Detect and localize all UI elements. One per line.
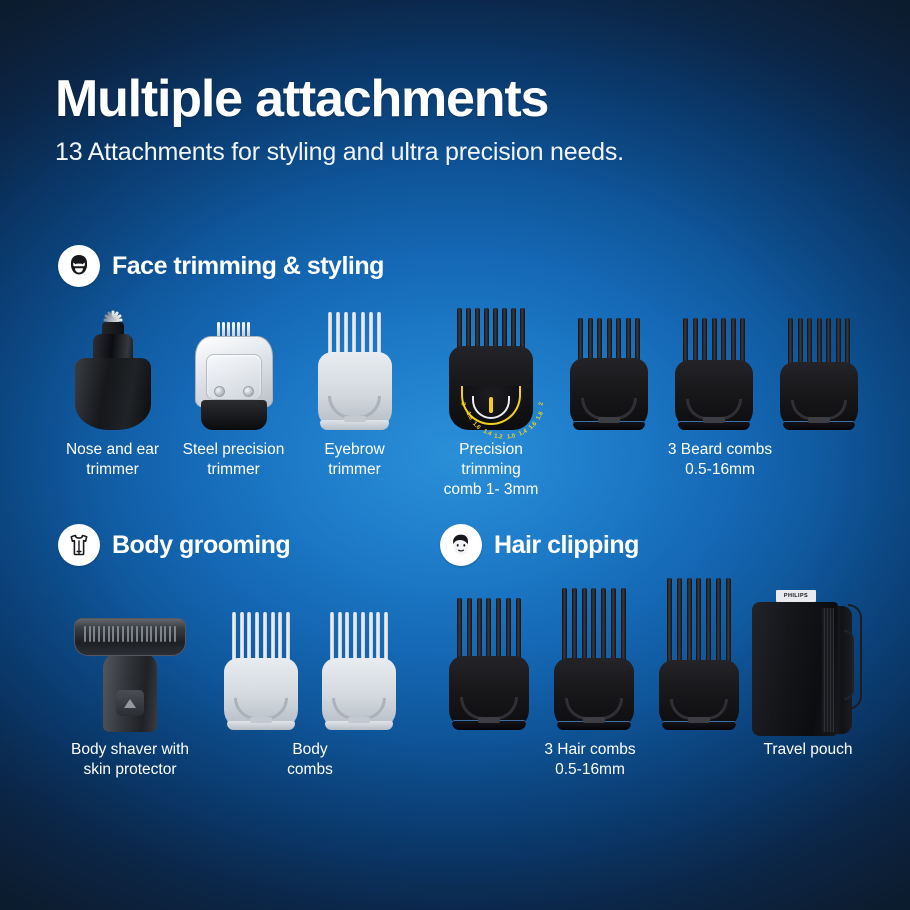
item-body-comb-1[interactable] [215, 600, 307, 730]
dial-number: 2 [539, 401, 545, 405]
bearded-face-icon [58, 245, 100, 287]
section-header-body-grooming: Body grooming [58, 524, 290, 566]
item-precision-trimming-comb[interactable]: 21.81.61.41.21.01.41.61.82 Precision tri… [428, 300, 554, 500]
dial-number: 1.6 [528, 421, 538, 431]
section-label-face: Face trimming & styling [112, 252, 384, 281]
item-label-eyebrow-trimmer: Eyebrow trimmer [297, 440, 412, 480]
body-comb-image [215, 600, 307, 730]
beard-comb-image [770, 300, 868, 430]
section-label-body-grooming: Body grooming [112, 531, 290, 560]
body-shaver-image [62, 600, 198, 730]
precision-dial[interactable]: 21.81.61.41.21.01.41.61.82 [461, 386, 522, 425]
item-label-hair-combs: 3 Hair combs 0.5-16mm [480, 740, 700, 780]
hair-comb-image [440, 588, 538, 730]
item-hair-comb-3[interactable] [650, 568, 748, 730]
header: Multiple attachments 13 Attachments for … [55, 72, 624, 167]
item-hair-comb-1[interactable] [440, 588, 538, 730]
item-travel-pouch[interactable]: PHILIPS Travel pouch [740, 578, 876, 760]
item-body-shaver[interactable]: Body shaver with skin protector [62, 600, 198, 780]
nose-and-ear-trimmer-image [55, 300, 170, 430]
dial-indicator-icon [489, 397, 493, 413]
section-label-hair-clipping: Hair clipping [494, 531, 639, 560]
dial-number: 1.4 [482, 428, 492, 437]
item-steel-precision-trimmer[interactable]: Steel precision trimmer [176, 300, 291, 480]
philips-brand-text: PHILIPS [784, 593, 808, 599]
item-body-comb-2[interactable] [313, 600, 405, 730]
item-label-travel-pouch: Travel pouch [740, 740, 876, 760]
hair-comb-image [545, 578, 643, 730]
travel-pouch-image: PHILIPS [740, 578, 876, 730]
beard-comb-image [560, 300, 658, 430]
item-hair-comb-2[interactable] [545, 578, 643, 730]
page-title: Multiple attachments [55, 72, 624, 126]
hair-comb-image [650, 568, 748, 730]
dial-number: 1.0 [507, 433, 516, 440]
body-comb-image [313, 600, 405, 730]
section-header-hair-clipping: Hair clipping [440, 524, 639, 566]
item-label-nose-and-ear-trimmer: Nose and ear trimmer [55, 440, 170, 480]
item-label-beard-combs: 3 Beard combs 0.5-16mm [600, 440, 840, 480]
head-hair-icon [440, 524, 482, 566]
dial-number: 1.4 [518, 428, 528, 437]
item-label-body-combs: Body combs [235, 740, 385, 780]
item-label-body-shaver: Body shaver with skin protector [62, 740, 198, 780]
torso-icon [58, 524, 100, 566]
item-beard-comb-1[interactable] [560, 300, 658, 430]
philips-brand-tag: PHILIPS [776, 590, 816, 602]
item-nose-and-ear-trimmer[interactable]: Nose and ear trimmer [55, 300, 170, 480]
dial-number: 2 [460, 401, 466, 405]
eyebrow-trimmer-image [297, 300, 412, 430]
dial-number: 1.2 [494, 433, 503, 440]
drawstring-cord-icon [844, 630, 854, 700]
shaver-release-button[interactable] [116, 690, 144, 716]
precision-trimming-comb-image: 21.81.61.41.21.01.41.61.82 [428, 300, 554, 430]
triangle-icon [124, 699, 136, 708]
steel-precision-trimmer-image [176, 300, 291, 430]
item-beard-comb-2[interactable] [665, 300, 763, 430]
dial-number: 1.6 [472, 421, 482, 431]
item-eyebrow-trimmer[interactable]: Eyebrow trimmer [297, 300, 412, 480]
section-header-face: Face trimming & styling [58, 245, 384, 287]
dial-number: 1.8 [536, 410, 545, 420]
item-beard-comb-3[interactable] [770, 300, 868, 430]
item-label-precision-trimming-comb: Precision trimming comb 1- 3mm [428, 440, 554, 500]
beard-comb-image [665, 300, 763, 430]
dial-number: 1.8 [465, 410, 474, 420]
page-subtitle: 13 Attachments for styling and ultra pre… [55, 138, 624, 167]
item-label-steel-precision-trimmer: Steel precision trimmer [176, 440, 291, 480]
